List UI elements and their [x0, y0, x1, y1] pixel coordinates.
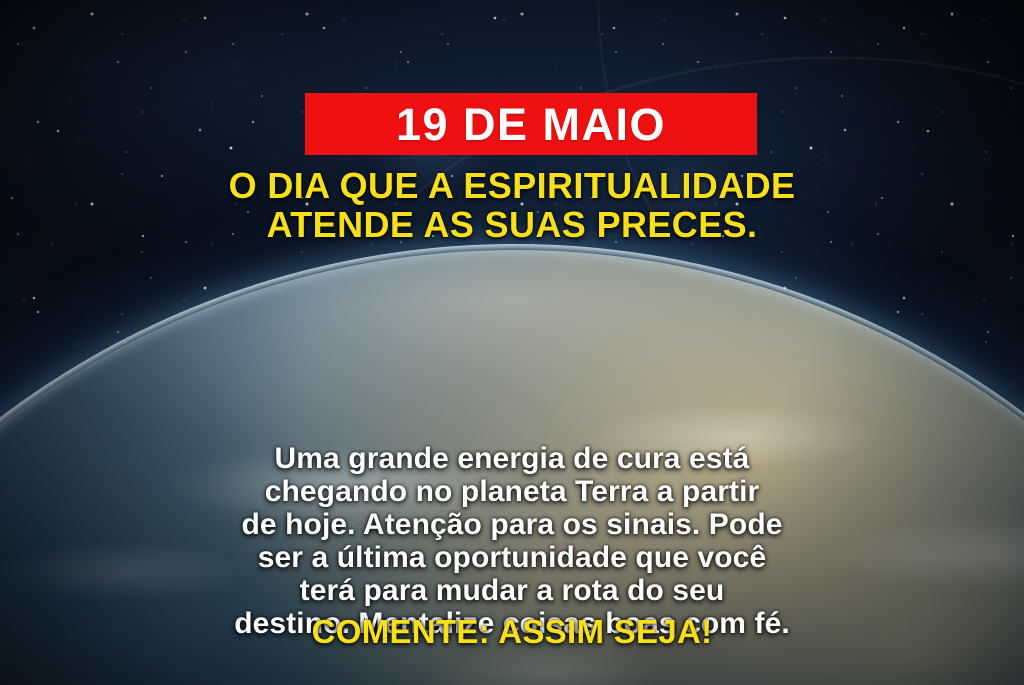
headline: O DIA QUE A ESPIRITUALIDADE ATENDE AS SU…: [0, 166, 1024, 244]
date-banner: 19 DE MAIO: [305, 93, 757, 155]
inspirational-poster: 19 DE MAIO O DIA QUE A ESPIRITUALIDADE A…: [0, 0, 1024, 685]
poster-content: 19 DE MAIO O DIA QUE A ESPIRITUALIDADE A…: [0, 0, 1024, 685]
body-line-2: chegando no planeta Terra a partir: [0, 475, 1024, 508]
call-to-action-text: COMENTE: ASSIM SEJA!: [0, 614, 1024, 650]
body-line-4: ser a última oportunidade que você: [0, 541, 1024, 574]
body-paragraph: Uma grande energia de cura está chegando…: [0, 442, 1024, 640]
body-line-1: Uma grande energia de cura está: [0, 442, 1024, 475]
headline-line-1: O DIA QUE A ESPIRITUALIDADE: [0, 166, 1024, 205]
date-banner-label: 19 DE MAIO: [396, 102, 666, 147]
body-line-3: de hoje. Atenção para os sinais. Pode: [0, 508, 1024, 541]
body-line-5: terá para mudar a rota do seu: [0, 574, 1024, 607]
headline-line-2: ATENDE AS SUAS PRECES.: [0, 205, 1024, 244]
